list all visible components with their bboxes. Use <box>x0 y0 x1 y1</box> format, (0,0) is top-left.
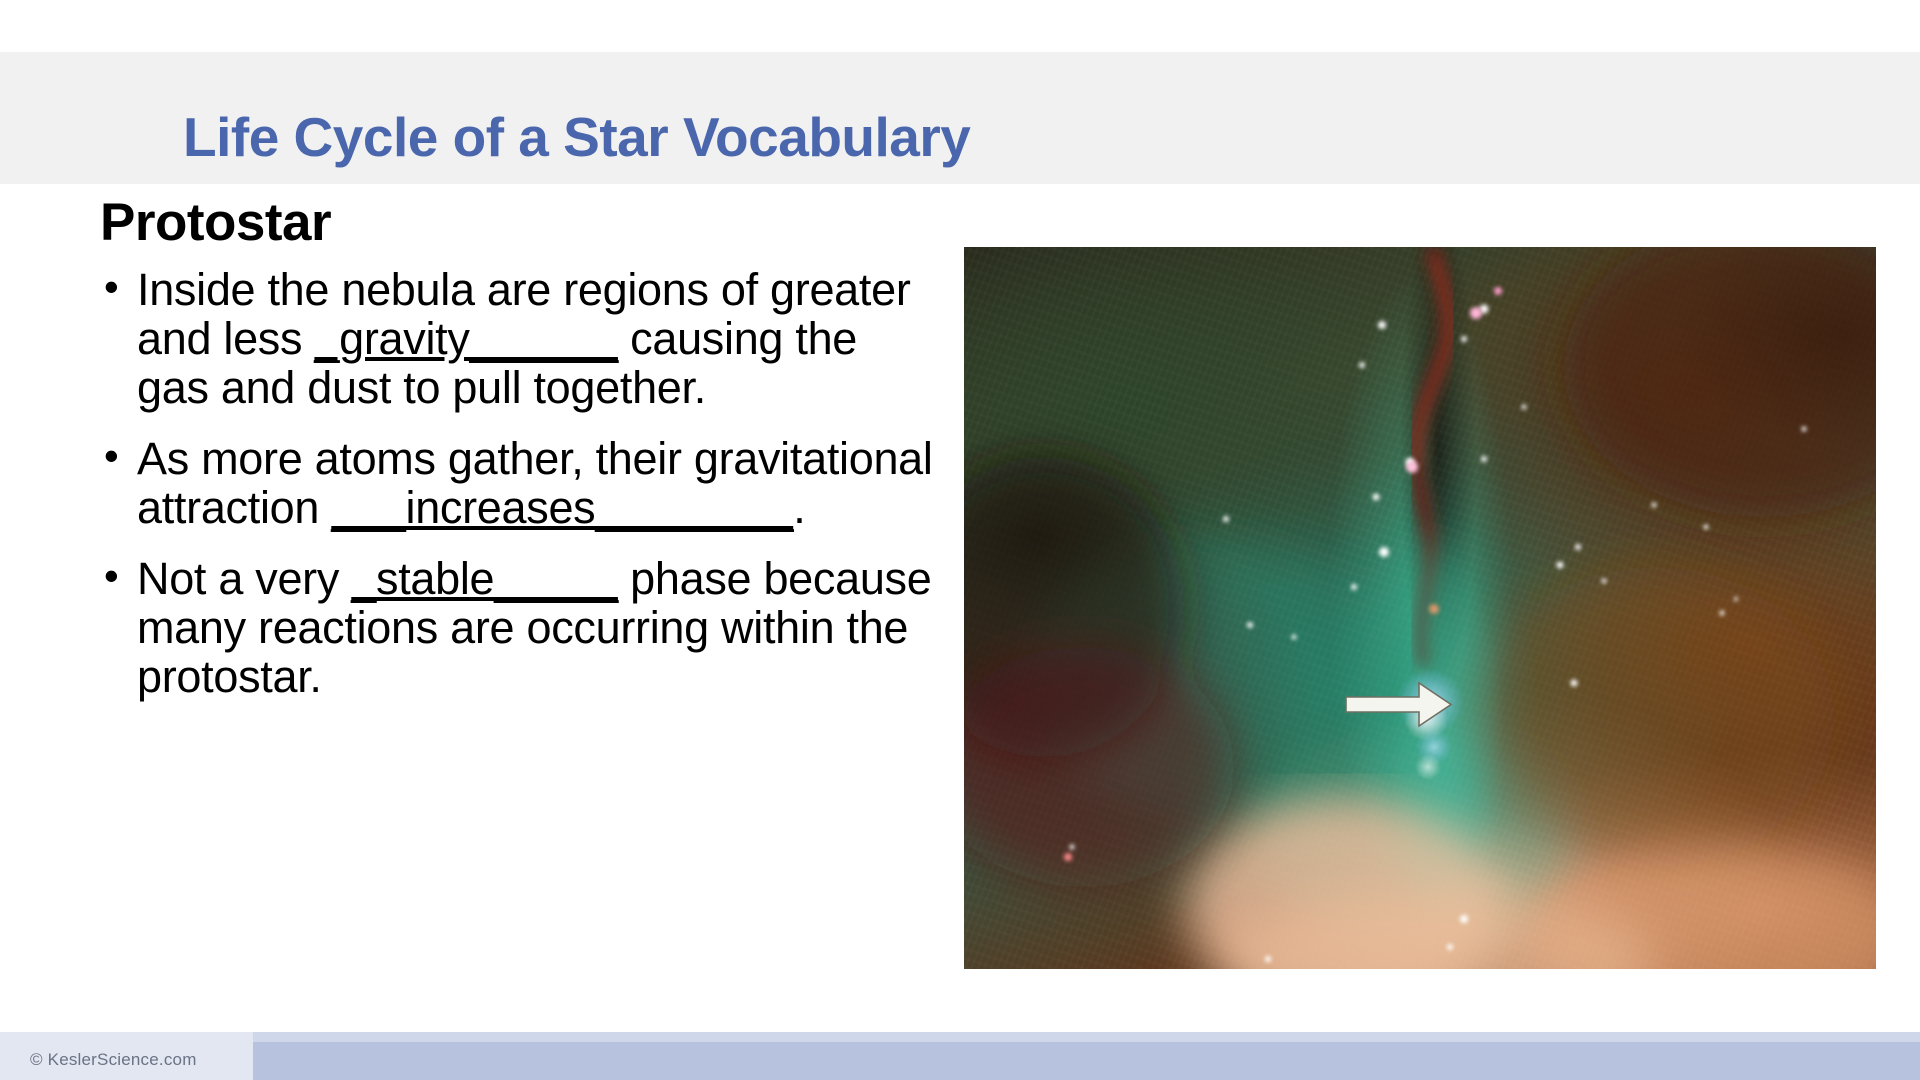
bullet-segment-blank: ___increases________ <box>331 482 793 533</box>
bullet-list: Inside the nebula are regions of greater… <box>100 265 940 701</box>
page-title: Life Cycle of a Star Vocabulary <box>183 110 970 165</box>
list-item: Inside the nebula are regions of greater… <box>100 265 940 412</box>
section-heading: Protostar <box>100 195 940 251</box>
bullet-segment-blank: _gravity______ <box>314 313 618 364</box>
bullet-segment-text: . <box>793 482 805 533</box>
slide-canvas: Life Cycle of a Star Vocabulary Protosta… <box>0 0 1920 1080</box>
nebula-detail-svg <box>964 247 1876 969</box>
list-item: As more atoms gather, their gravitationa… <box>100 434 940 532</box>
footer-bar-highlight <box>253 1032 1920 1042</box>
nebula-protostar-photo <box>964 247 1876 969</box>
footer-bar <box>253 1042 1920 1080</box>
bullet-segment-text: Not a very <box>137 553 351 604</box>
list-item: Not a very _stable_____ phase because ma… <box>100 554 940 701</box>
content-column: Protostar Inside the nebula are regions … <box>100 195 940 723</box>
bullet-segment-blank: _stable_____ <box>351 553 618 604</box>
copyright-text: © KeslerScience.com <box>30 1050 197 1070</box>
